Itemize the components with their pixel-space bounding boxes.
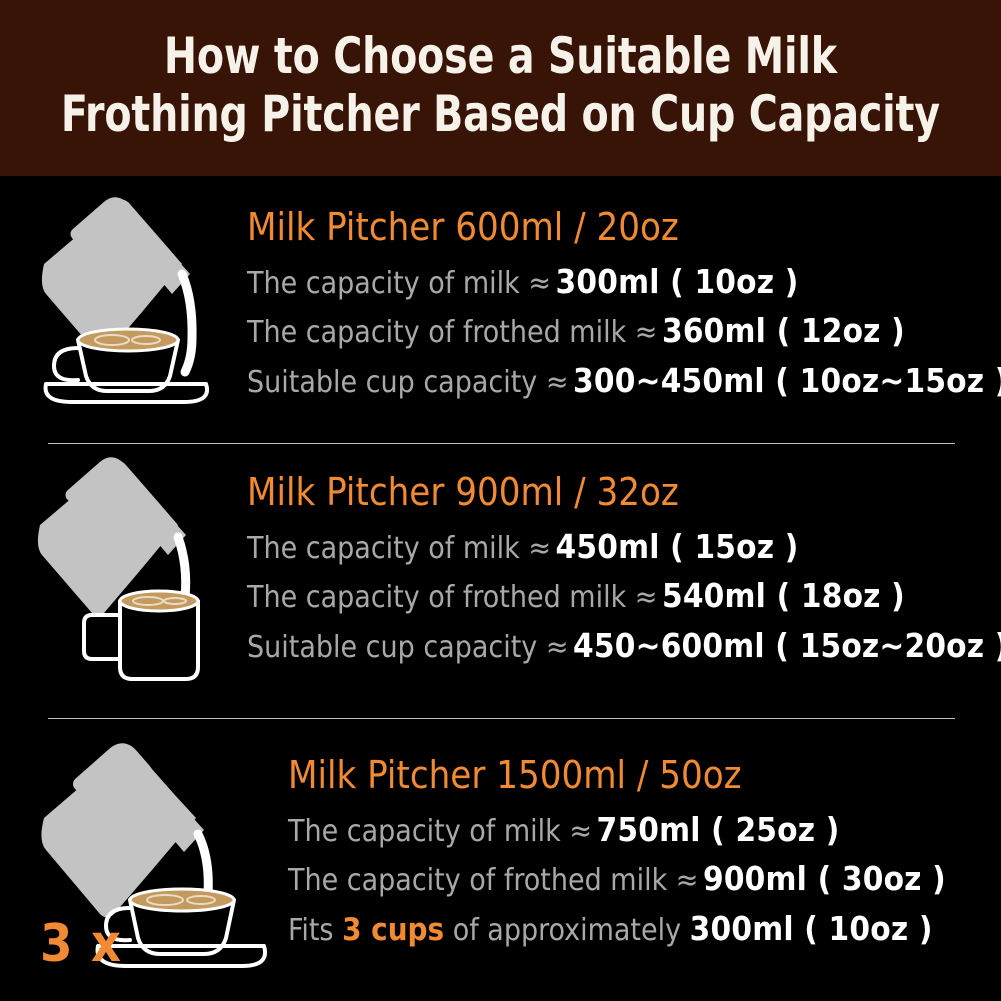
spec-line-fits-cups: Fits 3 cups of approximately 300ml ( 10o… xyxy=(288,905,1001,953)
spec-label-suffix: of approximately xyxy=(444,913,690,948)
spec-value: 450ml ( 15oz ) xyxy=(556,527,799,566)
spec-value: 540ml ( 18oz ) xyxy=(662,576,905,615)
spec-line: The capacity of frothed milk ≈ 540ml ( 1… xyxy=(247,572,1001,620)
section-title: Milk Pitcher 600ml / 20oz xyxy=(247,204,1001,252)
page-title: How to Choose a Suitable Milk Frothing P… xyxy=(61,27,940,144)
header-banner: How to Choose a Suitable Milk Frothing P… xyxy=(0,0,1001,176)
quantity-multiplier-label: 3 x xyxy=(40,918,122,970)
spec-line: The capacity of milk ≈ 450ml ( 15oz ) xyxy=(247,523,1001,571)
spec-label: Suitable cup capacity ≈ xyxy=(247,630,568,665)
icon-column: 3 x xyxy=(18,740,288,978)
spec-accent-cups: 3 cups xyxy=(342,912,444,948)
spec-value: 300ml ( 10oz ) xyxy=(556,262,799,301)
infographic-page: How to Choose a Suitable Milk Frothing P… xyxy=(0,0,1001,1001)
spec-label: The capacity of frothed milk ≈ xyxy=(247,580,657,615)
pitcher-pouring-into-cup-with-saucer-icon xyxy=(22,190,222,405)
pitcher-section-1500ml: 3 x Milk Pitcher 1500ml / 50oz The capac… xyxy=(0,740,1001,990)
spec-label-prefix: Fits xyxy=(288,913,342,948)
spec-line: The capacity of frothed milk ≈ 360ml ( 1… xyxy=(247,307,1001,355)
spec-line: Suitable cup capacity ≈ 300~450ml ( 10oz… xyxy=(247,357,1001,405)
spec-label: The capacity of milk ≈ xyxy=(247,531,551,566)
icon-column xyxy=(22,455,247,687)
spec-line: The capacity of frothed milk ≈ 900ml ( 3… xyxy=(288,855,1001,903)
spec-value: 900ml ( 30oz ) xyxy=(703,859,946,898)
section-divider xyxy=(48,443,955,444)
spec-label: The capacity of frothed milk ≈ xyxy=(288,863,698,898)
section-title: Milk Pitcher 900ml / 32oz xyxy=(247,469,1001,517)
page-title-line-2: Frothing Pitcher Based on Cup Capacity xyxy=(61,85,940,144)
spec-label: The capacity of frothed milk ≈ xyxy=(247,315,657,350)
spec-label: Suitable cup capacity ≈ xyxy=(247,365,568,400)
spec-value: 300ml ( 10oz ) xyxy=(690,909,933,948)
pitcher-section-600ml: Milk Pitcher 600ml / 20oz The capacity o… xyxy=(0,190,1001,426)
spec-label: The capacity of milk ≈ xyxy=(288,814,592,849)
icon-column xyxy=(22,190,247,405)
section-divider xyxy=(48,718,955,719)
spec-value: 300~450ml ( 10oz~15oz ) xyxy=(573,361,1001,400)
text-column: Milk Pitcher 1500ml / 50oz The capacity … xyxy=(288,740,1001,955)
spec-label: The capacity of milk ≈ xyxy=(247,266,551,301)
section-title: Milk Pitcher 1500ml / 50oz xyxy=(288,752,1001,800)
spec-line: The capacity of milk ≈ 300ml ( 10oz ) xyxy=(247,258,1001,306)
spec-line: Suitable cup capacity ≈ 450~600ml ( 15oz… xyxy=(247,622,1001,670)
spec-value: 450~600ml ( 15oz~20oz ) xyxy=(573,626,1001,665)
pitcher-section-900ml: Milk Pitcher 900ml / 32oz The capacity o… xyxy=(0,455,1001,703)
text-column: Milk Pitcher 900ml / 32oz The capacity o… xyxy=(247,455,1001,672)
spec-value: 750ml ( 25oz ) xyxy=(597,810,840,849)
spec-value: 360ml ( 12oz ) xyxy=(662,311,905,350)
spec-line: The capacity of milk ≈ 750ml ( 25oz ) xyxy=(288,806,1001,854)
page-title-line-1: How to Choose a Suitable Milk xyxy=(61,27,940,86)
pitcher-pouring-into-tall-mug-icon xyxy=(22,455,227,687)
text-column: Milk Pitcher 600ml / 20oz The capacity o… xyxy=(247,190,1001,407)
